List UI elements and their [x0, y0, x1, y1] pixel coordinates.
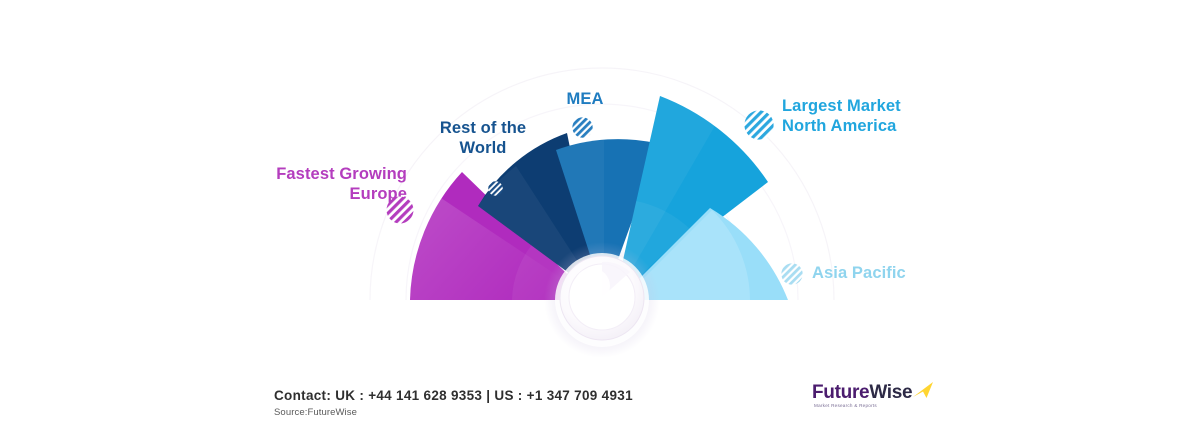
striped-circle-marker-mea	[572, 117, 593, 138]
label-rest-of-world-line2: World	[420, 138, 546, 158]
label-asia-pacific: Asia Pacific	[812, 263, 942, 283]
contact-line: Contact: UK : +44 141 628 9353 | US : +1…	[274, 388, 633, 403]
striped-circle-marker-europe	[386, 196, 414, 224]
label-mea: MEA	[545, 89, 625, 109]
label-europe: Fastest Growing Europe	[255, 164, 407, 204]
label-europe-region: Europe	[255, 184, 407, 204]
label-north-america-region: North America	[782, 116, 932, 136]
source-line: Source:FutureWise	[274, 407, 357, 418]
label-europe-annotation: Fastest Growing	[255, 164, 407, 184]
regional-market-share-infographic: Fastest Growing Europe Rest of the World…	[0, 0, 1200, 428]
label-rest-of-world-line1: Rest of the	[420, 118, 546, 138]
label-north-america-annotation: Largest Market	[782, 96, 932, 116]
striped-circle-marker-rest-of-world	[488, 181, 503, 196]
striped-circle-marker-asia-pacific	[781, 263, 803, 285]
label-rest-of-world: Rest of the World	[420, 118, 546, 158]
futurewise-logo[interactable]: FutureWise Market Research & Reports	[812, 382, 932, 416]
label-north-america: Largest Market North America	[782, 96, 932, 136]
striped-circle-marker-north-america	[744, 110, 774, 140]
label-asia-pacific-region: Asia Pacific	[812, 263, 942, 283]
center-hub	[544, 242, 660, 358]
fan-chart	[0, 0, 1200, 428]
logo-tagline: Market Research & Reports	[814, 403, 877, 408]
arrow-icon	[912, 382, 934, 400]
logo-word-second: Wise	[869, 382, 912, 403]
logo-word-first: Future	[812, 382, 869, 403]
label-mea-region: MEA	[545, 89, 625, 109]
footer: Contact: UK : +44 141 628 9353 | US : +1…	[0, 380, 1200, 428]
logo-wordmark: FutureWise	[812, 382, 912, 404]
